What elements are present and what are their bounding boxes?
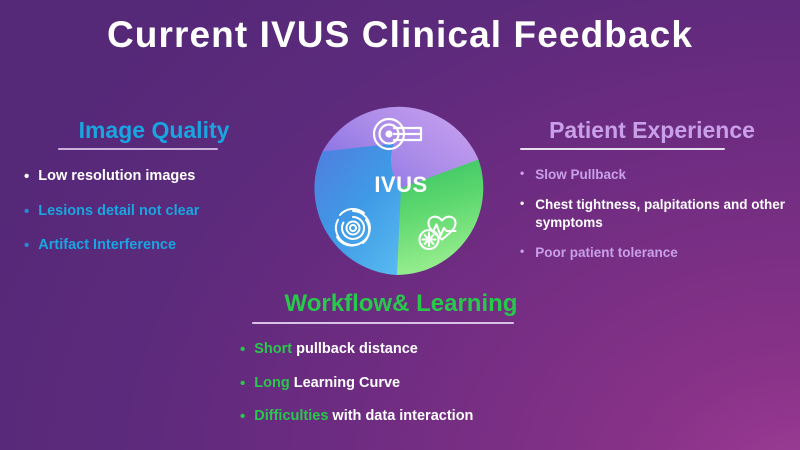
bullet-dot-icon: • xyxy=(520,196,524,212)
list-item-label: Slow Pullback xyxy=(535,166,792,184)
list-item: • Poor patient tolerance xyxy=(512,244,792,262)
list-item: • Lesions detail not clear xyxy=(14,202,294,222)
list-item-label: Poor patient tolerance xyxy=(535,244,792,262)
list-item-rest: with data interaction xyxy=(328,408,473,424)
list-item: • Slow Pullback xyxy=(512,166,792,184)
list-item-rest: Chest tightness, palpitations and other … xyxy=(535,197,785,230)
bullet-dot-icon: • xyxy=(24,167,29,187)
bullet-dot-icon: • xyxy=(24,202,29,222)
list-item-lead: Difficulties xyxy=(254,408,328,424)
list-item-label: Long Learning Curve xyxy=(254,374,586,393)
image-quality-heading: Image Quality xyxy=(14,118,294,143)
page-title: Current IVUS Clinical Feedback xyxy=(0,14,800,57)
list-item-rest: Lesions detail not clear xyxy=(38,203,199,219)
list-item: • Low resolution images xyxy=(14,167,294,187)
patient-experience-bullet-list: • Slow Pullback • Chest tightness, palpi… xyxy=(512,166,792,261)
list-item-rest: Learning Curve xyxy=(290,375,400,391)
list-item-lead: Long xyxy=(254,375,289,391)
list-item-rest: pullback distance xyxy=(292,341,418,357)
list-item-label: Chest tightness, palpitations and other … xyxy=(535,196,792,232)
bullet-dot-icon: • xyxy=(240,407,245,427)
workflow-learning-bullet-list: • Short pullback distance • Long Learnin… xyxy=(216,340,586,427)
section-patient-experience: Patient Experience • Slow Pullback • Che… xyxy=(512,118,792,274)
patient-experience-underline xyxy=(520,148,725,150)
list-item: • Short pullback distance xyxy=(216,340,586,360)
list-item: • Artifact Interference xyxy=(14,236,294,256)
list-item-rest: Artifact Interference xyxy=(38,237,176,253)
image-quality-bullet-list: • Low resolution images • Lesions detail… xyxy=(14,167,294,256)
slide-canvas: Current IVUS Clinical Feedback Image Qua… xyxy=(0,0,800,450)
bullet-dot-icon: • xyxy=(240,374,245,394)
workflow-learning-heading: Workflow& Learning xyxy=(216,291,586,317)
list-item: • Chest tightness, palpitations and othe… xyxy=(512,196,792,232)
list-item-rest: Poor patient tolerance xyxy=(535,245,678,260)
list-item-rest: Slow Pullback xyxy=(535,167,626,182)
bullet-dot-icon: • xyxy=(24,236,29,256)
workflow-learning-underline xyxy=(252,322,514,324)
list-item-label: Artifact Interference xyxy=(38,236,294,255)
list-item-rest: Low resolution images xyxy=(38,168,195,184)
ivus-pinwheel-diagram: IVUS xyxy=(302,89,500,287)
patient-experience-heading: Patient Experience xyxy=(512,118,792,143)
bullet-dot-icon: • xyxy=(240,340,245,360)
list-item-label: Short pullback distance xyxy=(254,340,586,359)
image-quality-underline xyxy=(58,148,218,150)
list-item: • Difficulties with data interaction xyxy=(216,407,586,427)
bullet-dot-icon: • xyxy=(520,166,524,182)
list-item: • Long Learning Curve xyxy=(216,374,586,394)
bullet-dot-icon: • xyxy=(520,244,524,260)
ivus-center-label: IVUS xyxy=(302,172,500,198)
section-image-quality: Image Quality • Low resolution images • … xyxy=(14,118,294,271)
list-item-label: Lesions detail not clear xyxy=(38,202,294,221)
section-workflow-learning: Workflow& Learning • Short pullback dist… xyxy=(216,291,586,441)
list-item-label: Low resolution images xyxy=(38,167,294,186)
list-item-lead: Short xyxy=(254,341,292,357)
list-item-label: Difficulties with data interaction xyxy=(254,407,586,426)
